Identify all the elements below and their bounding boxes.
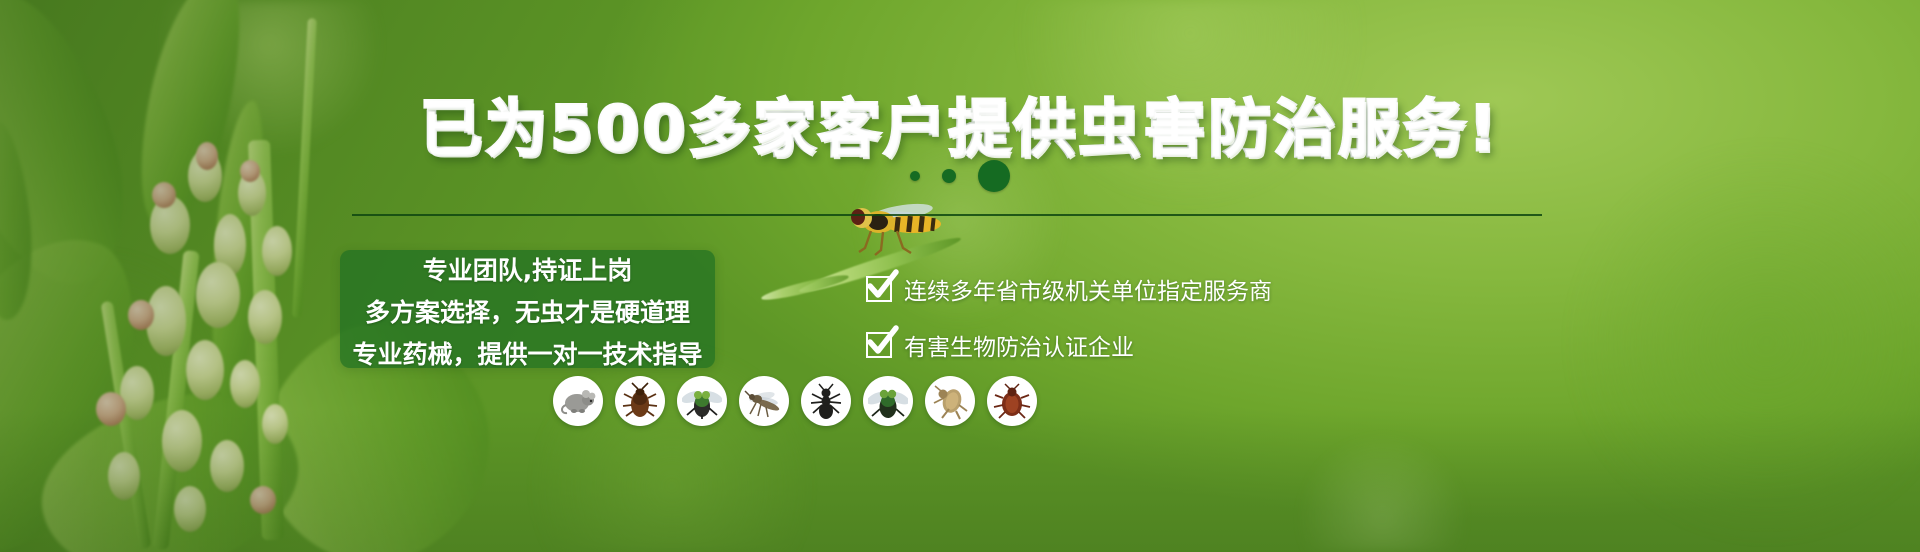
checklist-item-label: 有害生物防治认证企业	[904, 328, 1134, 362]
divider-rule	[352, 214, 1542, 216]
checkbox-checked-icon	[866, 332, 892, 358]
selling-point-line-1: 专业团队,持证上岗	[423, 251, 633, 287]
dot-small-icon	[910, 171, 920, 181]
rat-icon[interactable]	[553, 376, 603, 426]
pest-types-row	[553, 376, 1037, 426]
ant-icon[interactable]	[801, 376, 851, 426]
housefly-icon[interactable]	[863, 376, 913, 426]
checklist-item: 有害生物防治认证企业	[866, 328, 1272, 362]
banner-headline-text: 已为500多家客户提供虫害防治服务!	[420, 78, 1500, 168]
bedbug-icon[interactable]	[987, 376, 1037, 426]
fly-icon[interactable]	[677, 376, 727, 426]
dot-medium-icon	[942, 169, 956, 183]
selling-point-line-2: 多方案选择，无虫才是硬道理	[365, 293, 690, 329]
checklist-item-label: 连续多年省市级机关单位指定服务商	[904, 272, 1272, 306]
mosquito-icon[interactable]	[739, 376, 789, 426]
decorative-dots	[0, 160, 1920, 192]
selling-points-text: 专业团队,持证上岗 多方案选择，无虫才是硬道理 专业药械，提供一对一技术指导	[340, 252, 715, 370]
promo-banner: 已为500多家客户提供虫害防治服务! 专业团队,持证上岗 多方案选择，无虫才是硬…	[0, 0, 1920, 552]
dot-large-icon	[978, 160, 1010, 192]
cockroach-icon[interactable]	[615, 376, 665, 426]
checkbox-checked-icon	[866, 276, 892, 302]
checklist-item: 连续多年省市级机关单位指定服务商	[866, 272, 1272, 306]
banner-headline: 已为500多家客户提供虫害防治服务!	[0, 78, 1920, 168]
flea-icon[interactable]	[925, 376, 975, 426]
certification-checklist: 连续多年省市级机关单位指定服务商 有害生物防治认证企业	[866, 272, 1272, 362]
selling-point-line-3: 专业药械，提供一对一技术指导	[352, 335, 702, 371]
